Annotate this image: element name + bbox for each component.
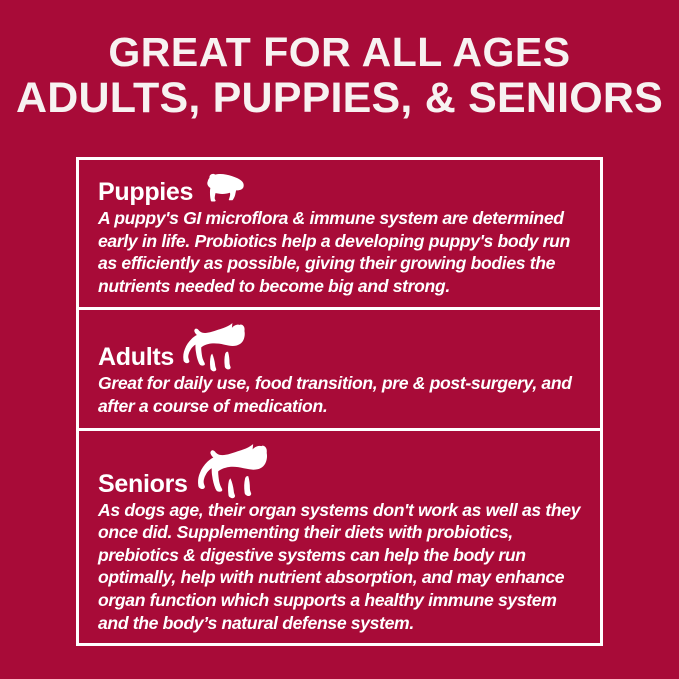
panel-puppies: Puppies A puppy's GI microflora & immune… bbox=[79, 160, 600, 307]
headline-line-2: ADULTS, PUPPIES, & SENIORS bbox=[0, 74, 679, 122]
panel-seniors-title: Seniors bbox=[98, 471, 188, 498]
panel-adults-header: Adults bbox=[98, 323, 584, 371]
life-stage-panels: Puppies A puppy's GI microflora & immune… bbox=[76, 157, 603, 646]
panel-adults-title: Adults bbox=[98, 344, 174, 371]
panel-puppies-title: Puppies bbox=[98, 179, 193, 206]
panel-seniors-body: As dogs age, their organ systems don't w… bbox=[98, 499, 584, 635]
promo-graphic: { "theme": { "background": "#a80b38", "f… bbox=[0, 0, 679, 679]
panel-seniors-header: Seniors bbox=[98, 444, 584, 498]
panel-seniors: Seniors As dogs age, their organ systems… bbox=[79, 428, 600, 645]
panel-puppies-body: A puppy's GI microflora & immune system … bbox=[98, 207, 584, 297]
senior-dog-icon bbox=[196, 444, 278, 500]
puppy-dog-icon bbox=[201, 173, 249, 207]
headline-line-1: GREAT FOR ALL AGES bbox=[0, 30, 679, 74]
adult-dog-icon bbox=[182, 323, 254, 373]
panel-puppies-header: Puppies bbox=[98, 173, 584, 206]
page-title: GREAT FOR ALL AGES ADULTS, PUPPIES, & SE… bbox=[0, 0, 679, 122]
panel-adults: Adults Great for daily use, food transit… bbox=[79, 307, 600, 427]
panel-adults-body: Great for daily use, food transition, pr… bbox=[98, 372, 584, 417]
